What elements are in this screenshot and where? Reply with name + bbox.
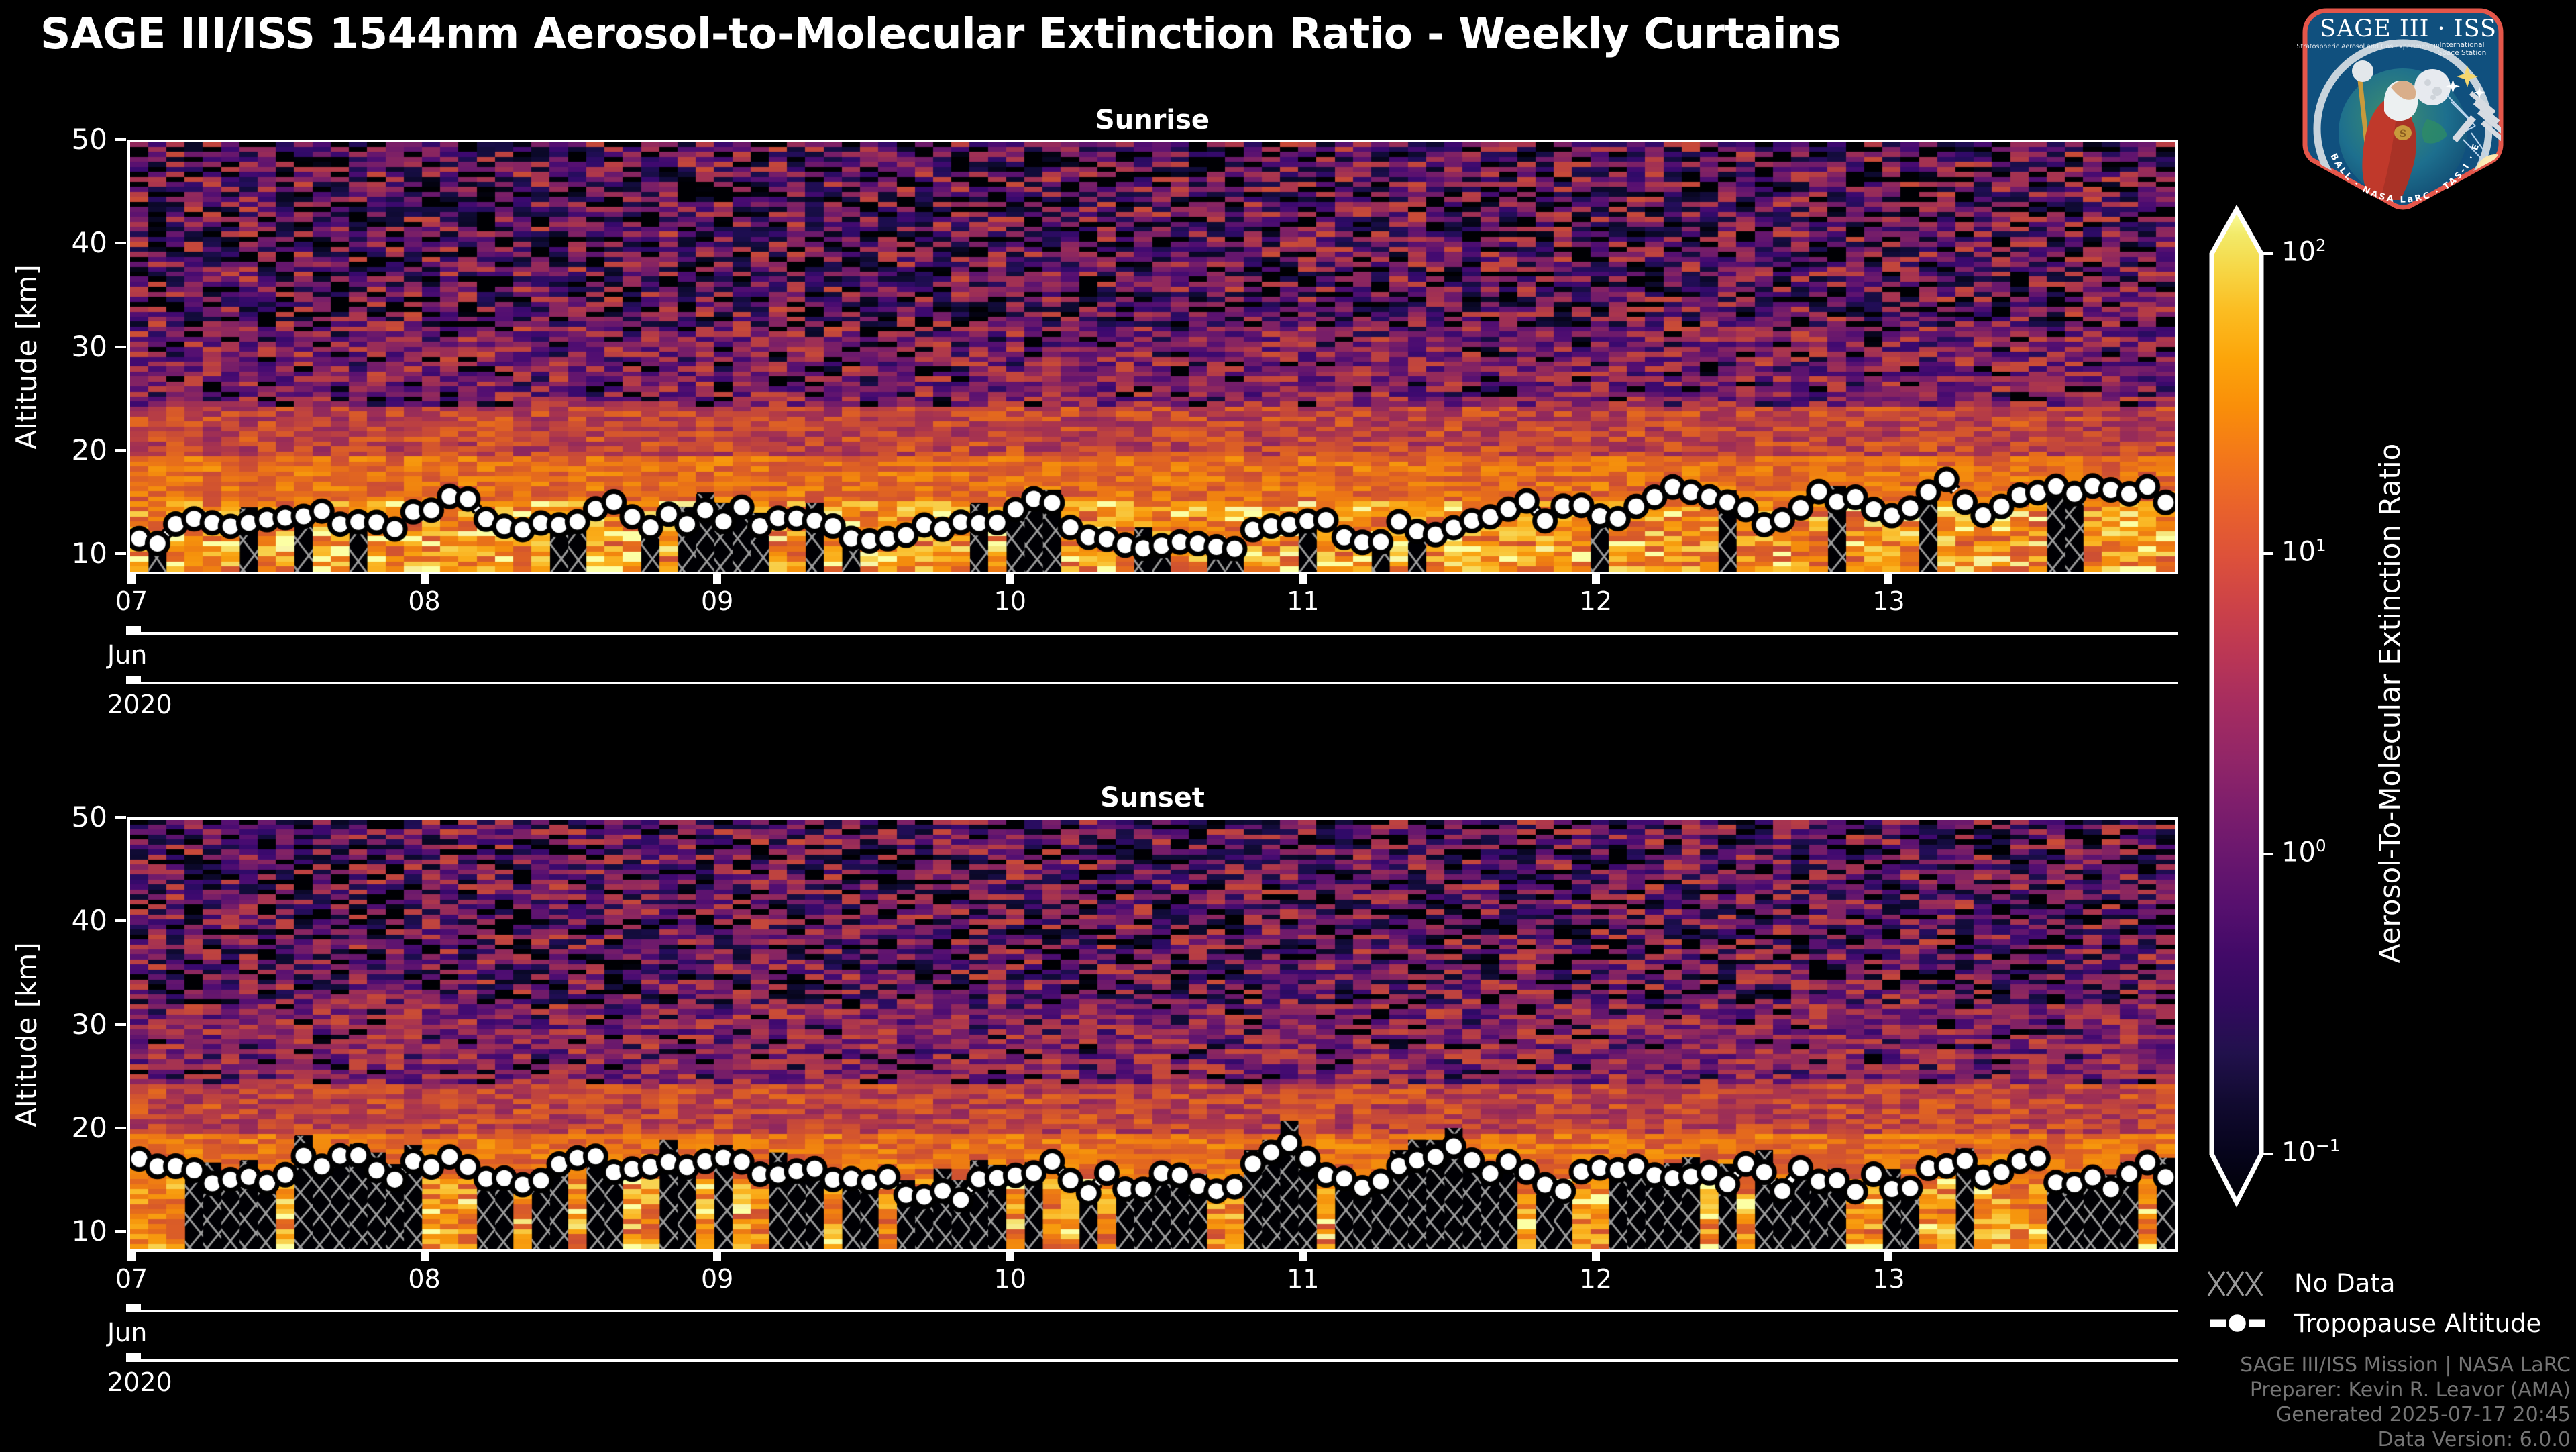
plot-area-sunrise[interactable]	[127, 140, 2178, 574]
y-tick-label-sunset-30: 30	[0, 1006, 107, 1043]
y-tick-label-sunset-40: 40	[0, 902, 107, 939]
tropopause-marker-icon	[2207, 1308, 2279, 1339]
colorbar-tick-mark-3	[2263, 1153, 2273, 1155]
colorbar-tick-mark-0	[2263, 252, 2273, 255]
x-tick-label-sunrise-07: 07	[78, 586, 185, 616]
x-tick-mark-sunrise-10	[1006, 574, 1014, 584]
date-level-rule-sunrise-1	[130, 682, 2178, 684]
y-tick-label-sunset-10: 10	[0, 1212, 107, 1250]
footer-line-mission: SAGE III/ISS Mission | NASA LaRC	[1900, 1353, 2571, 1378]
x-tick-mark-sunrise-08	[421, 574, 429, 584]
heatmap-sunrise	[130, 142, 2175, 572]
y-tick-label-sunrise-40: 40	[0, 224, 107, 262]
panel-title-sunrise: Sunrise	[127, 105, 2178, 136]
legend-item-no-data: No Data	[2207, 1263, 2569, 1303]
y-tick-label-sunrise-30: 30	[0, 328, 107, 366]
x-tick-label-sunset-08: 08	[371, 1264, 478, 1294]
x-tick-label-sunset-12: 12	[1542, 1264, 1650, 1294]
y-tick-mark-sunrise-30	[115, 346, 126, 348]
date-level-tick-sunset-1	[126, 1353, 141, 1362]
colorbar-axis-label: Aerosol-To-Molecular Extinction Ratio	[2371, 327, 2409, 1079]
y-tick-mark-sunset-20	[115, 1127, 126, 1129]
x-tick-mark-sunset-12	[1592, 1252, 1600, 1261]
footer-line-version: Data Version: 6.0.0	[1900, 1427, 2571, 1452]
x-tick-label-sunset-13: 13	[1835, 1264, 1942, 1294]
date-level-rule-sunset-0	[130, 1310, 2178, 1312]
y-tick-mark-sunset-50	[115, 816, 126, 819]
x-tick-mark-sunset-13	[1884, 1252, 1892, 1261]
x-tick-label-sunrise-09: 09	[663, 586, 771, 616]
colorbar-tick-mark-2	[2263, 853, 2273, 855]
x-tick-mark-sunrise-12	[1592, 574, 1600, 584]
legend-label-tropopause: Tropopause Altitude	[2294, 1309, 2541, 1338]
legend: No Data Tropopause Altitude	[2207, 1263, 2569, 1343]
colorbar-tick-exponent-0: 2	[2316, 236, 2326, 255]
x-tick-mark-sunrise-13	[1884, 574, 1892, 584]
x-tick-label-sunset-10: 10	[957, 1264, 1064, 1294]
y-tick-mark-sunset-30	[115, 1023, 126, 1026]
date-level-rule-sunset-1	[130, 1359, 2178, 1362]
date-level-rule-sunrise-0	[130, 632, 2178, 635]
colorbar-gradient	[2202, 201, 2276, 1248]
panel-sunrise: Sunrise	[127, 140, 2178, 574]
x-tick-mark-sunset-09	[713, 1252, 721, 1261]
svg-text:International: International	[2439, 41, 2484, 49]
svg-text:Space Station: Space Station	[2438, 49, 2487, 57]
colorbar-tick-label-3: 10−1	[2282, 1136, 2340, 1168]
date-level-label-sunset-0: Jun	[107, 1318, 147, 1347]
footer-line-preparer: Preparer: Kevin R. Leavor (AMA)	[1900, 1378, 2571, 1402]
x-tick-label-sunrise-08: 08	[371, 586, 478, 616]
date-level-tick-sunrise-0	[126, 626, 141, 635]
x-tick-mark-sunrise-11	[1299, 574, 1307, 584]
x-tick-label-sunset-09: 09	[663, 1264, 771, 1294]
y-tick-label-sunset-20: 20	[0, 1109, 107, 1147]
date-level-tick-sunset-0	[126, 1304, 141, 1312]
x-tick-mark-sunset-08	[421, 1252, 429, 1261]
x-tick-mark-sunrise-09	[713, 574, 721, 584]
x-tick-mark-sunrise-07	[127, 574, 136, 584]
sage-iii-iss-logo: S SAGE III · ISS Stratospheric Aerosol a…	[2296, 1, 2510, 216]
colorbar-tick-mark-1	[2263, 552, 2273, 555]
colorbar-tick-base-3: 10	[2282, 1137, 2316, 1168]
x-tick-label-sunrise-13: 13	[1835, 586, 1942, 616]
x-tick-label-sunrise-11: 11	[1249, 586, 1356, 616]
date-level-label-sunrise-1: 2020	[107, 690, 172, 719]
no-data-hatch-icon	[2207, 1267, 2279, 1298]
x-tick-label-sunset-11: 11	[1249, 1264, 1356, 1294]
colorbar-tick-exponent-3: −1	[2316, 1136, 2341, 1155]
y-tick-label-sunrise-10: 10	[0, 535, 107, 572]
date-level-label-sunrise-0: Jun	[107, 640, 147, 670]
svg-text:S: S	[2400, 129, 2406, 140]
y-tick-mark-sunrise-20	[115, 449, 126, 452]
panel-title-sunset: Sunset	[127, 782, 2178, 813]
date-level-tick-sunrise-1	[126, 676, 141, 684]
legend-label-no-data: No Data	[2294, 1269, 2395, 1298]
legend-item-tropopause: Tropopause Altitude	[2207, 1303, 2569, 1343]
colorbar-tick-label-0: 102	[2282, 236, 2326, 267]
svg-text:SAGE III · ISS: SAGE III · ISS	[2320, 15, 2497, 42]
y-tick-label-sunrise-50: 50	[0, 121, 107, 158]
x-tick-mark-sunset-11	[1299, 1252, 1307, 1261]
y-tick-mark-sunset-10	[115, 1230, 126, 1233]
x-tick-label-sunset-07: 07	[78, 1264, 185, 1294]
y-tick-mark-sunrise-50	[115, 138, 126, 141]
footer-line-generated: Generated 2025-07-17 20:45	[1900, 1402, 2571, 1427]
plot-area-sunset[interactable]	[127, 817, 2178, 1252]
date-level-label-sunset-1: 2020	[107, 1367, 172, 1397]
y-tick-label-sunset-50: 50	[0, 798, 107, 836]
colorbar-tick-exponent-1: 1	[2316, 535, 2326, 555]
y-tick-mark-sunrise-10	[115, 552, 126, 555]
y-tick-mark-sunset-40	[115, 919, 126, 922]
page-title: SAGE III/ISS 1544nm Aerosol-to-Molecular…	[40, 9, 2254, 58]
colorbar-tick-base-1: 10	[2282, 537, 2316, 568]
footer-credits: SAGE III/ISS Mission | NASA LaRC Prepare…	[1900, 1353, 2571, 1452]
colorbar-tick-label-1: 101	[2282, 535, 2326, 567]
panel-sunset: Sunset	[127, 817, 2178, 1252]
y-tick-label-sunrise-20: 20	[0, 431, 107, 469]
heatmap-sunset	[130, 820, 2175, 1249]
colorbar-tick-label-2: 100	[2282, 836, 2326, 868]
colorbar-tick-exponent-2: 0	[2316, 836, 2326, 855]
figure-canvas: SAGE III/ISS 1544nm Aerosol-to-Molecular…	[0, 0, 2576, 1449]
colorbar-tick-base-2: 10	[2282, 837, 2316, 868]
colorbar-tick-base-0: 10	[2282, 236, 2316, 267]
svg-text:Stratospheric Aerosol and Gas: Stratospheric Aerosol and Gas Experiment…	[2296, 43, 2439, 50]
x-tick-mark-sunset-07	[127, 1252, 136, 1261]
colorbar: 10210110010−1 Aerosol-To-Molecular Extin…	[2202, 201, 2484, 1248]
x-tick-label-sunrise-10: 10	[957, 586, 1064, 616]
y-tick-mark-sunrise-40	[115, 242, 126, 244]
x-tick-mark-sunset-10	[1006, 1252, 1014, 1261]
x-tick-label-sunrise-12: 12	[1542, 586, 1650, 616]
